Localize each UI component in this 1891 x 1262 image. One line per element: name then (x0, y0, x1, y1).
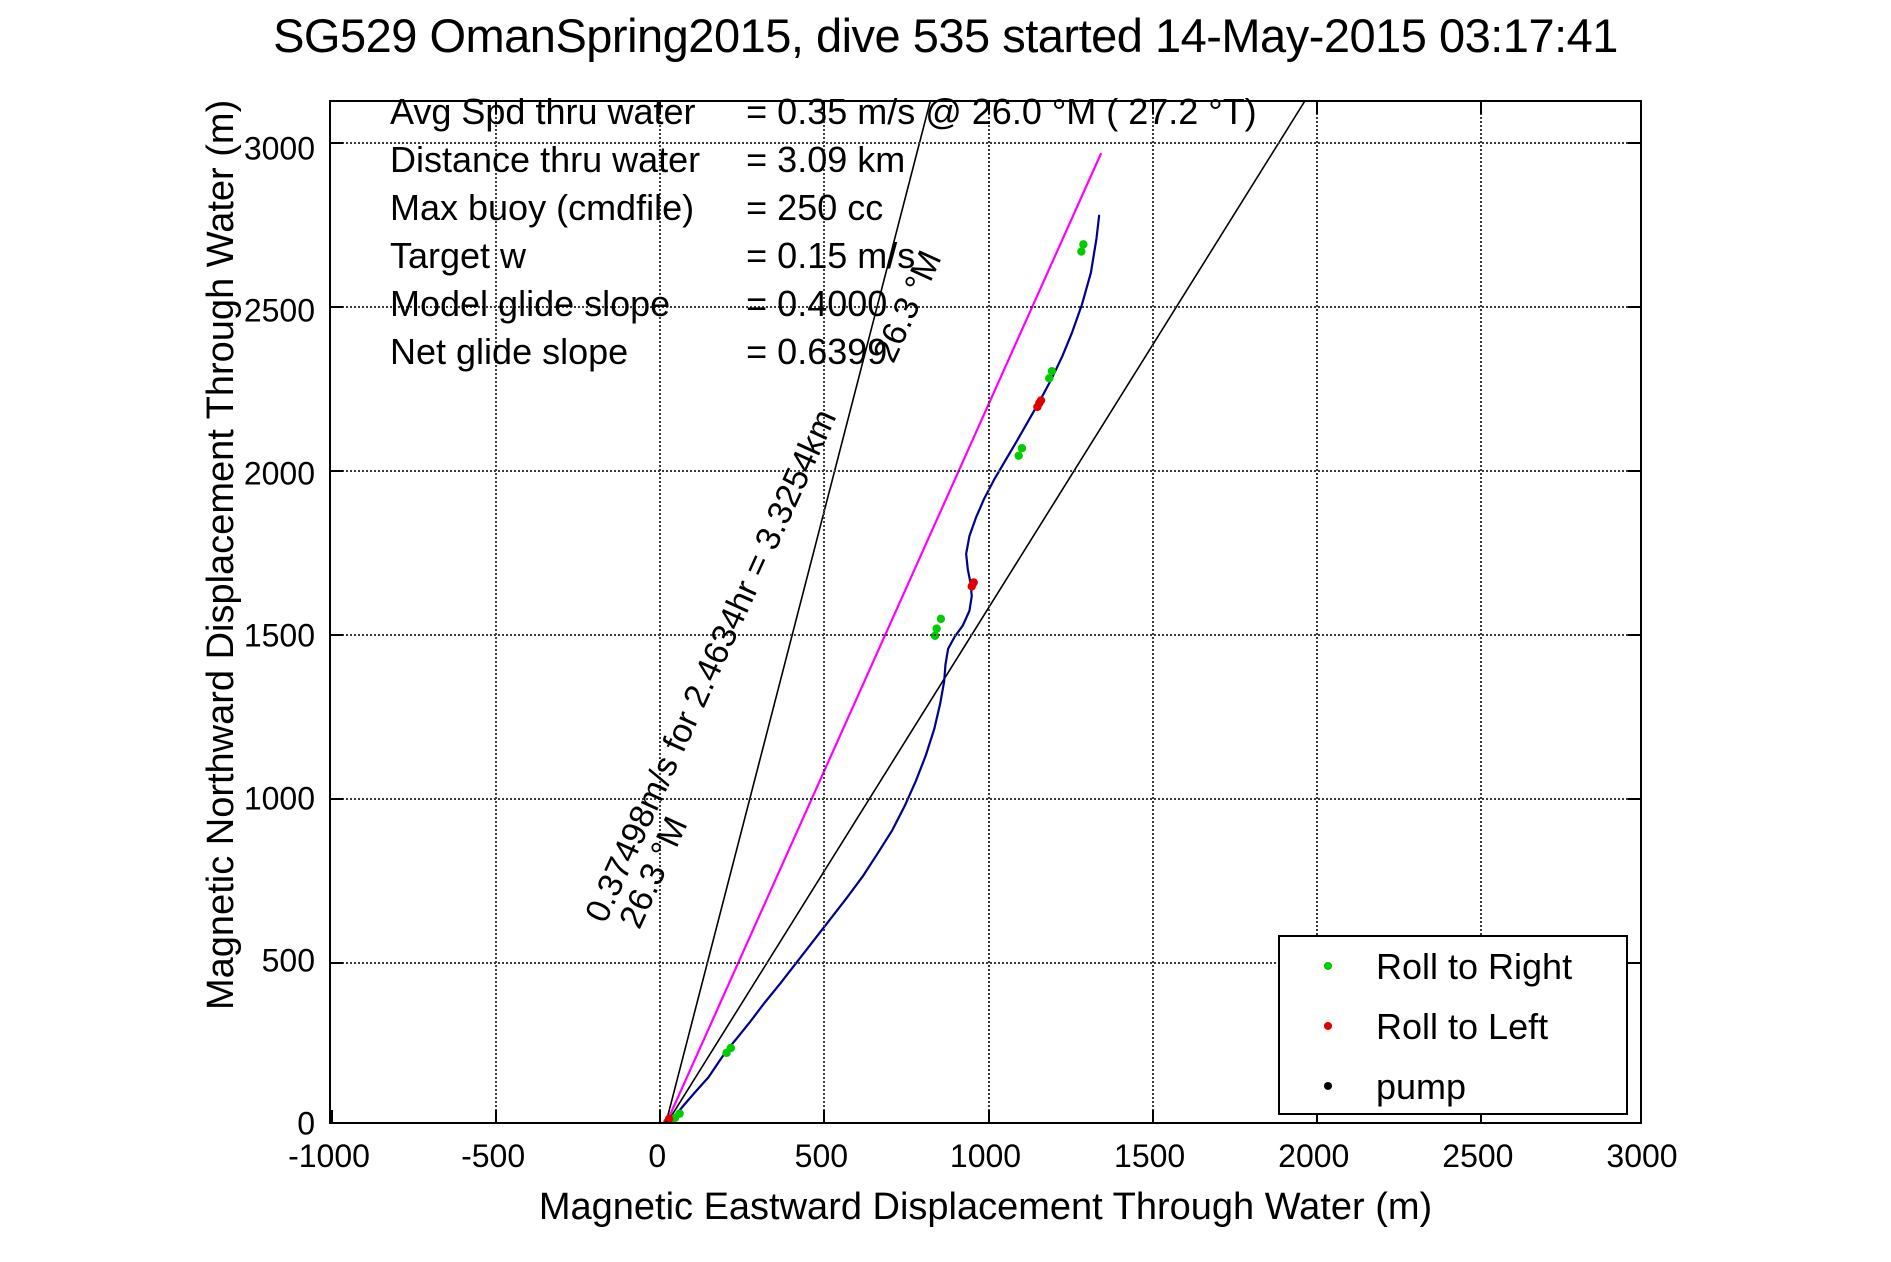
marker-roll-to-right (675, 1109, 683, 1117)
stats-eq: = (746, 136, 777, 184)
stats-row: Model glide slope = 0.4000 (390, 280, 1257, 328)
x-tick (988, 1110, 990, 1122)
stats-key: Model glide slope (390, 280, 746, 328)
marker-roll-to-right (1018, 444, 1026, 452)
y-tick (331, 306, 343, 308)
stats-value: 3.09 km (777, 136, 1257, 184)
x-tick-label: 0 (648, 1138, 666, 1175)
stats-row: Target w = 0.15 m/s (390, 232, 1257, 280)
marker-roll-to-left (970, 578, 978, 586)
stats-key: Target w (390, 232, 746, 280)
stats-annotation: Avg Spd thru water = 0.35 m/s @ 26.0 °M … (390, 88, 1257, 376)
x-tick-label: 3000 (1606, 1138, 1677, 1175)
x-tick-label: 2500 (1442, 1138, 1513, 1175)
y-tick-right (1628, 306, 1640, 308)
page-title: SG529 OmanSpring2015, dive 535 started 1… (0, 8, 1891, 63)
x-tick (823, 1110, 825, 1122)
x-tick-label: -500 (461, 1138, 525, 1175)
x-tick (659, 1110, 661, 1122)
stats-key: Net glide slope (390, 328, 746, 376)
x-tick-label: 1500 (1114, 1138, 1185, 1175)
stats-eq: = (746, 280, 777, 328)
stats-value: 0.6399 (777, 328, 1257, 376)
gridline-y (331, 470, 1640, 472)
x-tick (495, 1110, 497, 1122)
y-tick-right (1628, 470, 1640, 472)
stats-row: Distance thru water = 3.09 km (390, 136, 1257, 184)
gridline-y (331, 634, 1640, 636)
legend-label: pump (1376, 1066, 1466, 1108)
stats-eq: = (746, 184, 777, 232)
y-tick-label: 500 (225, 943, 315, 980)
y-tick-right (1628, 634, 1640, 636)
stats-key: Avg Spd thru water (390, 88, 746, 136)
legend-label: Roll to Left (1376, 1006, 1548, 1048)
stats-key: Max buoy (cmdfile) (390, 184, 746, 232)
x-tick-label: -1000 (288, 1138, 370, 1175)
y-tick-label: 2500 (225, 293, 315, 330)
stats-row: Max buoy (cmdfile) = 250 cc (390, 184, 1257, 232)
x-tick-label: 1000 (950, 1138, 1021, 1175)
stats-eq: = (746, 88, 777, 136)
x-tick-label: 500 (795, 1138, 848, 1175)
y-tick-label: 1500 (225, 618, 315, 655)
legend-marker-icon: • (1280, 952, 1376, 982)
stats-row: Net glide slope = 0.6399 (390, 328, 1257, 376)
legend-marker-icon: • (1280, 1072, 1376, 1102)
y-tick-label: 0 (225, 1106, 315, 1143)
marker-roll-to-right (727, 1044, 735, 1052)
y-tick (331, 470, 343, 472)
marker-roll-to-right (1014, 451, 1022, 459)
y-tick-label: 3000 (225, 130, 315, 167)
gridline-y (331, 798, 1640, 800)
legend-box: • Roll to Right • Roll to Left • pump (1278, 935, 1628, 1115)
x-tick-top (1480, 102, 1482, 114)
y-tick-label: 1000 (225, 780, 315, 817)
stats-table: Avg Spd thru water = 0.35 m/s @ 26.0 °M … (390, 88, 1257, 376)
stats-row: Avg Spd thru water = 0.35 m/s @ 26.0 °M … (390, 88, 1257, 136)
x-tick-label: 2000 (1278, 1138, 1349, 1175)
y-tick-right (1628, 962, 1640, 964)
x-axis-title: Magnetic Eastward Displacement Through W… (329, 1186, 1642, 1229)
stats-eq: = (746, 232, 777, 280)
y-tick-label: 2000 (225, 455, 315, 492)
stats-value: 0.35 m/s @ 26.0 °M ( 27.2 °T) (777, 88, 1257, 136)
y-tick (331, 634, 343, 636)
y-tick (331, 142, 343, 144)
y-tick-right (1628, 798, 1640, 800)
marker-roll-to-left (1037, 396, 1045, 404)
y-axis-title: Magnetic Northward Displacement Through … (200, 100, 243, 1010)
stats-key: Distance thru water (390, 136, 746, 184)
legend-item-pump[interactable]: • pump (1280, 1057, 1626, 1117)
y-tick (331, 798, 343, 800)
marker-roll-to-right (932, 624, 940, 632)
y-tick-right (1628, 142, 1640, 144)
x-tick (331, 1110, 333, 1122)
legend-label: Roll to Right (1376, 946, 1572, 988)
x-tick (1152, 1110, 1154, 1122)
y-tick (331, 962, 343, 964)
x-tick-top (1316, 102, 1318, 114)
stats-value: 250 cc (777, 184, 1257, 232)
legend-item-roll-to-left[interactable]: • Roll to Left (1280, 997, 1626, 1057)
stats-eq: = (746, 328, 777, 376)
marker-roll-to-right (937, 615, 945, 623)
legend-marker-icon: • (1280, 1012, 1376, 1042)
stats-value: 0.4000 (777, 280, 1257, 328)
stats-value: 0.15 m/s (777, 232, 1257, 280)
legend-item-roll-to-right[interactable]: • Roll to Right (1280, 937, 1626, 997)
